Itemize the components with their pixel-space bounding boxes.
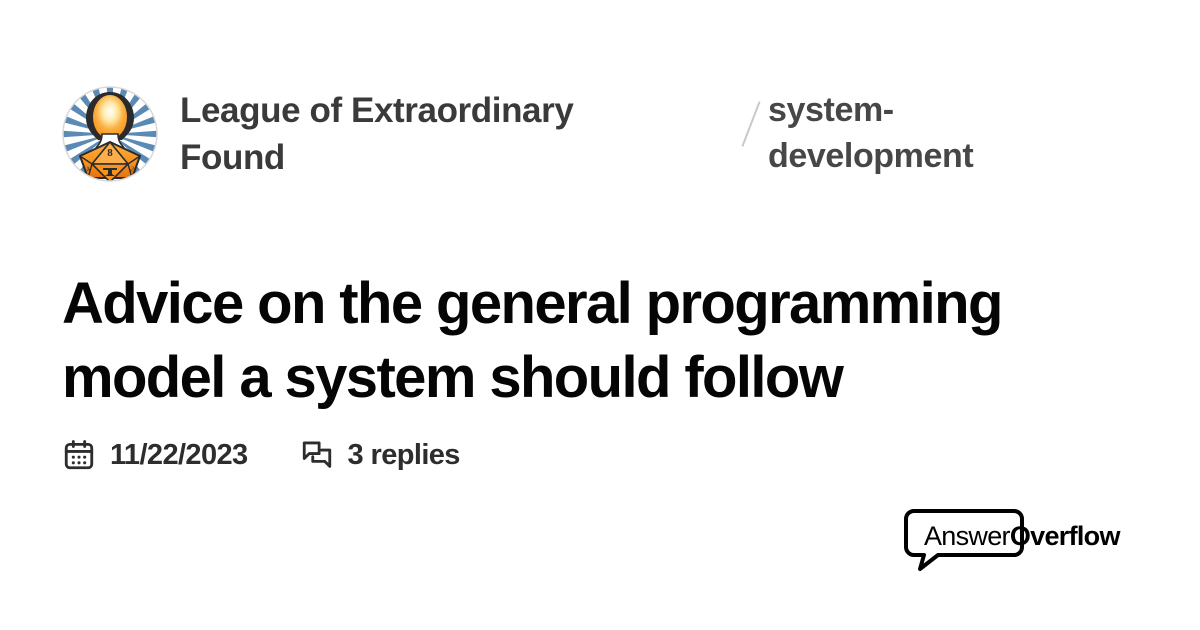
post-date: 11/22/2023 bbox=[110, 439, 248, 472]
channel-block[interactable]: system-development bbox=[740, 88, 1038, 179]
calendar-icon bbox=[62, 438, 96, 472]
channel-name: system-development bbox=[768, 88, 1038, 179]
server-block[interactable]: 8 4 2 League of Extraordinary Found bbox=[62, 84, 650, 182]
reply-count: 3 replies bbox=[348, 439, 460, 472]
open-graph-card: 8 4 2 League of Extraordinary Found syst… bbox=[0, 0, 1200, 630]
brand-word-answer: Answer bbox=[924, 521, 1010, 552]
die-number: 8 bbox=[107, 147, 113, 159]
replies-icon bbox=[300, 438, 334, 472]
breadcrumb-separator-icon bbox=[740, 98, 762, 154]
meta-replies: 3 replies bbox=[300, 438, 460, 472]
brand-word-overflow: Overflow bbox=[1010, 521, 1120, 552]
brand-wordmark: Answer Overflow bbox=[924, 521, 1120, 552]
server-avatar-d20-lantern-icon: 8 4 2 bbox=[62, 86, 158, 182]
post-meta: 11/22/2023 3 replies bbox=[62, 438, 460, 472]
server-name: League of Extraordinary Found bbox=[180, 88, 650, 181]
meta-date: 11/22/2023 bbox=[62, 438, 248, 472]
answer-overflow-logo[interactable]: Answer Overflow bbox=[902, 507, 1126, 578]
page-title: Advice on the general programming model … bbox=[62, 267, 1122, 415]
breadcrumb: 8 4 2 League of Extraordinary Found syst… bbox=[62, 84, 1062, 182]
